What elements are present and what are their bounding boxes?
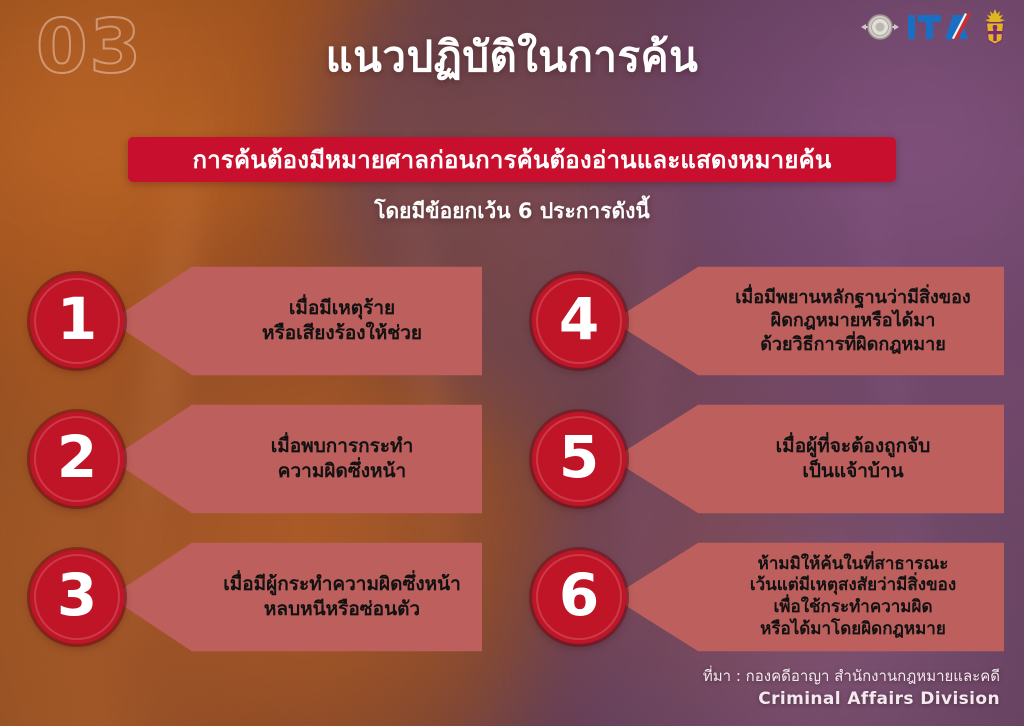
exception-item-3: เมื่อมีผู้กระทำความผิดซึ่งหน้าหลบหนีหรือ… [0, 528, 512, 666]
exception-text-line: ห้ามมิให้ค้นในที่สาธารณะ [712, 554, 994, 576]
arrow-banner-5: เมื่อผู้ที่จะต้องถูกจับเป็นแจ้าบ้าน [612, 400, 1004, 518]
number-badge-label: 1 [57, 290, 97, 348]
arrow-banner-6: ห้ามมิให้ค้นในที่สาธารณะเว้นแต่มีเหตุสงส… [612, 538, 1004, 656]
number-badge-label: 3 [57, 566, 97, 624]
credit-english: Criminal Affairs Division [703, 687, 1000, 712]
exception-text-line: เมื่อมีพยานหลักฐานว่ามีสิ่งของ [712, 286, 994, 309]
exception-text-6: ห้ามมิให้ค้นในที่สาธารณะเว้นแต่มีเหตุสงส… [712, 554, 994, 641]
arrow-banner-2: เมื่อพบการกระทำความผิดซึ่งหน้า [110, 400, 482, 518]
exception-text-1: เมื่อมีเหตุร้ายหรือเสียงร้องให้ช่วย [217, 296, 467, 346]
number-badge-label: 6 [559, 566, 599, 624]
exception-item-6: ห้ามมิให้ค้นในที่สาธารณะเว้นแต่มีเหตุสงส… [512, 528, 1024, 666]
number-badge-3: 3 [30, 550, 124, 644]
arrow-banner-4: เมื่อมีพยานหลักฐานว่ามีสิ่งของผิดกฎหมายห… [612, 262, 1004, 380]
exception-items-grid: เมื่อมีเหตุร้ายหรือเสียงร้องให้ช่วย1เมื่… [0, 252, 1024, 666]
credit-block: ที่มา : กองคดีอาญา สำนักงานกฎหมายและคดี … [703, 666, 1000, 712]
exception-item-1: เมื่อมีเหตุร้ายหรือเสียงร้องให้ช่วย1 [0, 252, 512, 390]
number-badge-4: 4 [532, 274, 626, 368]
logo-strip [860, 6, 1010, 48]
number-badge-label: 5 [559, 428, 599, 486]
number-badge-6: 6 [532, 550, 626, 644]
exception-text-line: เพื่อใช้กระทำความผิด [712, 597, 994, 619]
exception-text-3: เมื่อมีผู้กระทำความผิดซึ่งหน้าหลบหนีหรือ… [217, 572, 467, 622]
subheadline-text: โดยมีข้อยกเว้น 6 ประการดังนี้ [0, 198, 1024, 225]
exception-item-2: เมื่อพบการกระทำความผิดซึ่งหน้า2 [0, 390, 512, 528]
exception-item-5: เมื่อผู้ที่จะต้องถูกจับเป็นแจ้าบ้าน5 [512, 390, 1024, 528]
exception-item-4: เมื่อมีพยานหลักฐานว่ามีสิ่งของผิดกฎหมายห… [512, 252, 1024, 390]
arrow-banner-3: เมื่อมีผู้กระทำความผิดซึ่งหน้าหลบหนีหรือ… [110, 538, 482, 656]
number-badge-1: 1 [30, 274, 124, 368]
exception-text-line: ความผิดซึ่งหน้า [217, 459, 467, 484]
exception-text-line: ด้วยวิธีการที่ผิดกฎหมาย [712, 333, 994, 356]
exception-text-4: เมื่อมีพยานหลักฐานว่ามีสิ่งของผิดกฎหมายห… [712, 286, 994, 356]
number-badge-2: 2 [30, 412, 124, 506]
royal-thai-police-emblem-icon [860, 8, 900, 46]
exception-text-line: หลบหนีหรือซ่อนตัว [217, 597, 467, 622]
number-badge-label: 2 [57, 428, 97, 486]
credit-source: ที่มา : กองคดีอาญา สำนักงานกฎหมายและคดี [703, 666, 1000, 688]
headline-text: การค้นต้องมีหมายศาลก่อนการค้นต้องอ่านและ… [193, 148, 832, 172]
exception-text-line: เมื่อมีผู้กระทำความผิดซึ่งหน้า [217, 572, 467, 597]
exception-text-line: เมื่อพบการกระทำ [217, 434, 467, 459]
exception-text-line: เว้นแต่มีเหตุสงสัยว่ามีสิ่งของ [712, 575, 994, 597]
exception-text-line: หรือเสียงร้องให้ช่วย [217, 321, 467, 346]
infographic-poster: 03 แนวปฏิบัติในการค้น [0, 0, 1024, 726]
exception-text-5: เมื่อผู้ที่จะต้องถูกจับเป็นแจ้าบ้าน [712, 434, 994, 484]
ita-logo [907, 10, 973, 44]
headline-banner: การค้นต้องมีหมายศาลก่อนการค้นต้องอ่านและ… [128, 137, 896, 182]
thai-royal-crest-icon [980, 8, 1010, 46]
number-badge-label: 4 [559, 290, 599, 348]
exception-text-line: เมื่อมีเหตุร้าย [217, 296, 467, 321]
exception-text-line: เป็นแจ้าบ้าน [712, 459, 994, 484]
number-badge-5: 5 [532, 412, 626, 506]
exception-text-2: เมื่อพบการกระทำความผิดซึ่งหน้า [217, 434, 467, 484]
arrow-banner-1: เมื่อมีเหตุร้ายหรือเสียงร้องให้ช่วย [110, 262, 482, 380]
exception-text-line: เมื่อผู้ที่จะต้องถูกจับ [712, 434, 994, 459]
exception-text-line: หรือได้มาโดยผิดกฎหมาย [712, 619, 994, 641]
exception-text-line: ผิดกฎหมายหรือได้มา [712, 309, 994, 332]
